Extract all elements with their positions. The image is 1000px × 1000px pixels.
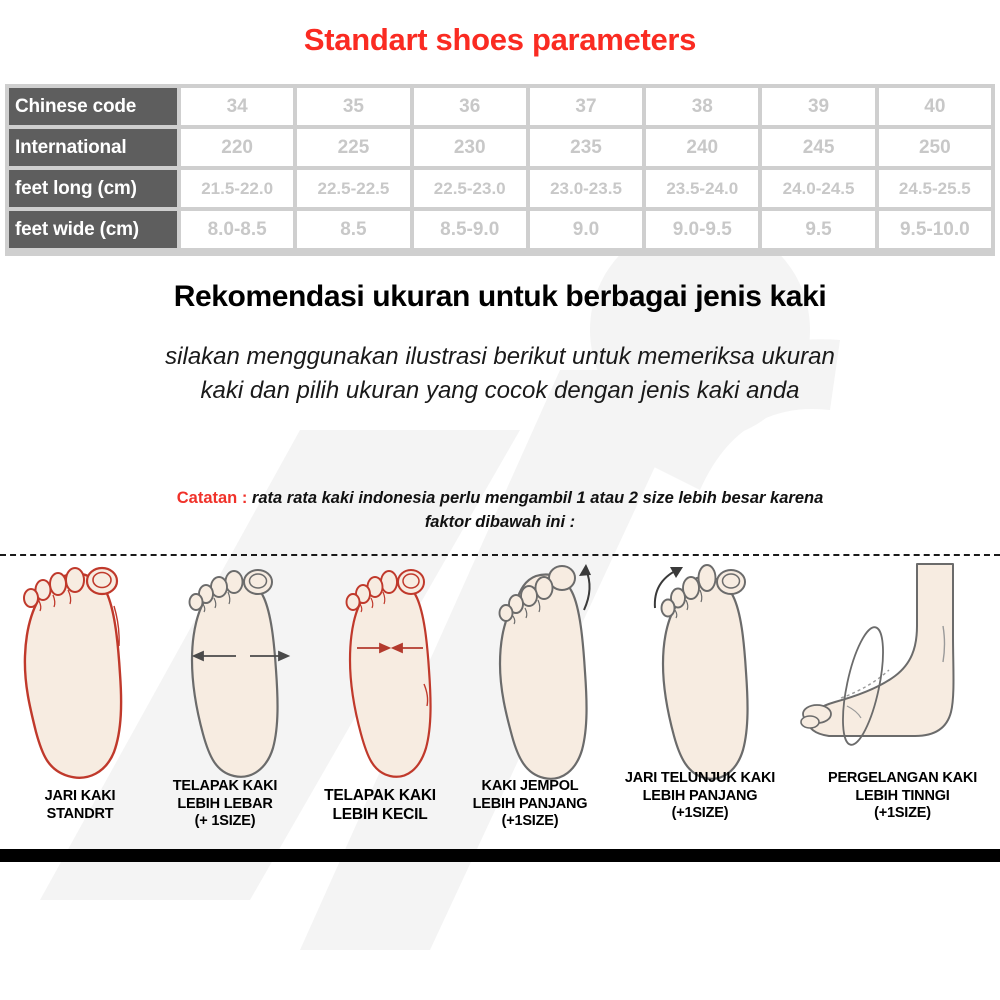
caption-row: JARI KAKI STANDRT TELAPAK KAKI LEBIH LEB… [0,788,1000,846]
caption-line: (+ 1SIZE) [150,813,300,831]
cell: 39 [762,88,874,125]
caption-line: PERGELANGAN KAKI [805,770,1000,788]
cell: 40 [879,88,991,125]
table-row: feet long (cm) 21.5-22.0 22.5-22.5 22.5-… [9,170,991,207]
cell: 9.5 [762,211,874,248]
foot-sole-shape [347,570,431,777]
caption-line: (+1SIZE) [455,813,605,831]
big-toe-length-arrow-icon [579,564,591,610]
note-label: Catatan : [177,489,248,507]
caption-longer-second-toe: JARI TELUNJUK KAKI LEBIH PANJANG (+1SIZE… [600,770,800,823]
cell: 21.5-22.0 [181,170,293,207]
caption-line: (+1SIZE) [600,805,800,823]
cell: 225 [297,129,409,166]
caption-line: JARI TELUNJUK KAKI [600,770,800,788]
note-line-1: rata rata kaki indonesia perlu mengambil… [247,489,823,507]
note-block: Catatan : rata rata kaki indonesia perlu… [60,487,940,535]
cell: 220 [181,129,293,166]
caption-line: JARI KAKI [5,788,155,806]
cell: 9.5-10.0 [879,211,991,248]
page-root: Standart shoes parameters Chinese code 3… [0,0,1000,1000]
foot-sole-shape [662,565,748,779]
caption-higher-instep: PERGELANGAN KAKI LEBIH TINNGI (+1SIZE) [805,770,1000,823]
cell: 8.5-9.0 [414,211,526,248]
foot-side-profile-shape [801,564,954,736]
caption-line: (+1SIZE) [805,805,1000,823]
cell: 37 [530,88,642,125]
shoe-size-table: Chinese code 34 35 36 37 38 39 40 Intern… [5,84,995,252]
cell: 245 [762,129,874,166]
cell: 9.0-9.5 [646,211,758,248]
cell: 235 [530,129,642,166]
cell: 23.0-23.5 [530,170,642,207]
cell: 38 [646,88,758,125]
foot-sole-shape [500,566,587,779]
table-row: International 220 225 230 235 240 245 25… [9,129,991,166]
caption-standard-toes: JARI KAKI STANDRT [5,788,155,823]
caption-wider-sole: TELAPAK KAKI LEBIH LEBAR (+ 1SIZE) [150,778,300,831]
foot-illustration-narrower-sole [325,556,455,786]
row-header-chinese-code: Chinese code [9,88,177,125]
cell: 8.5 [297,211,409,248]
cell: 24.5-25.5 [879,170,991,207]
caption-longer-big-toe: KAKI JEMPOL LEBIH PANJANG (+1SIZE) [455,778,605,831]
caption-line: STANDRT [5,806,155,824]
cell: 24.0-24.5 [762,170,874,207]
cell: 23.5-24.0 [646,170,758,207]
foot-illustration-strip [0,556,1000,786]
row-header-feet-long: feet long (cm) [9,170,177,207]
caption-line: LEBIH PANJANG [455,796,605,814]
foot-illustration-wider-sole [170,556,300,786]
table-row: feet wide (cm) 8.0-8.5 8.5 8.5-9.0 9.0 9… [9,211,991,248]
foot-sole-shape [190,570,278,777]
foot-sole-shape [24,568,121,778]
caption-line: LEBIH PANJANG [600,788,800,806]
row-header-international: International [9,129,177,166]
caption-line: TELAPAK KAKI [150,778,300,796]
note-line-2: faktor dibawah ini : [425,513,575,531]
caption-line: KAKI JEMPOL [455,778,605,796]
cell: 250 [879,129,991,166]
cell: 22.5-22.5 [297,170,409,207]
caption-line: TELAPAK KAKI [305,787,455,806]
caption-narrower-sole: TELAPAK KAKI LEBIH KECIL [305,787,455,825]
foot-illustration-longer-second-toe [635,556,775,786]
subheading-line-2: kaki dan pilih ukuran yang cocok dengan … [200,377,799,404]
row-header-feet-wide: feet wide (cm) [9,211,177,248]
cell: 240 [646,129,758,166]
size-table-wrapper: Chinese code 34 35 36 37 38 39 40 Intern… [5,84,995,252]
section-heading: Rekomendasi ukuran untuk berbagai jenis … [0,280,1000,314]
section-subheading: silakan menggunakan ilustrasi berikut un… [40,340,960,408]
caption-line: LEBIH LEBAR [150,796,300,814]
cell: 36 [414,88,526,125]
cell: 35 [297,88,409,125]
caption-line: LEBIH KECIL [305,806,455,825]
caption-line: LEBIH TINNGI [805,788,1000,806]
subheading-line-1: silakan menggunakan ilustrasi berikut un… [165,343,835,370]
cell: 22.5-23.0 [414,170,526,207]
cell: 9.0 [530,211,642,248]
dashed-divider [0,554,1000,556]
bottom-black-bar [0,849,1000,862]
cell: 34 [181,88,293,125]
page-title: Standart shoes parameters [0,22,1000,58]
foot-illustration-higher-instep [795,556,995,786]
cell: 230 [414,129,526,166]
table-row: Chinese code 34 35 36 37 38 39 40 [9,88,991,125]
foot-illustration-standard-toes [10,556,150,786]
cell: 8.0-8.5 [181,211,293,248]
foot-illustration-longer-big-toe [480,556,610,786]
